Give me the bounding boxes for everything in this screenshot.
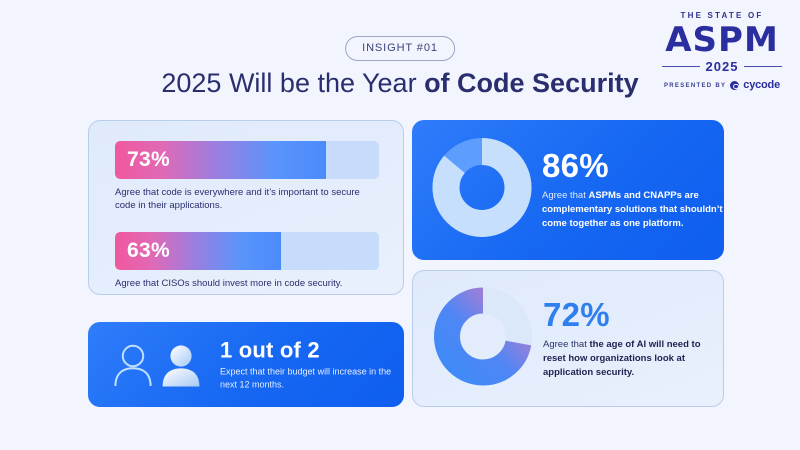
donut-72-caption: Agree that the age of AI will need to re… bbox=[543, 337, 723, 379]
bar-value-label: 63% bbox=[127, 239, 170, 263]
ratio-text-block: 1 out of 2 Expect that their budget will… bbox=[220, 338, 404, 391]
donut-72-text-block: 72% Agree that the age of AI will need t… bbox=[543, 297, 723, 379]
bar-caption: Agree that CISOs should invest more in c… bbox=[115, 277, 379, 290]
insight-badge: INSIGHT #01 bbox=[345, 36, 455, 61]
page-title-bold: of Code Security bbox=[424, 68, 639, 98]
bar-caption: Agree that code is everywhere and it’s i… bbox=[115, 186, 379, 213]
ratio-headline: 1 out of 2 bbox=[220, 338, 404, 361]
donut-86-text-block: 86% Agree that ASPMs and CNAPPs are comp… bbox=[542, 149, 724, 231]
donut-86-caption-regular: Agree that bbox=[542, 190, 588, 201]
page-title-regular: 2025 Will be the Year bbox=[161, 68, 424, 98]
ratio-panel: 1 out of 2 Expect that their budget will… bbox=[88, 322, 404, 407]
bar-item: 63% Agree that CISOs should invest more … bbox=[115, 232, 379, 290]
bar-track: 63% bbox=[115, 232, 379, 270]
ratio-caption: Expect that their budget will increase i… bbox=[220, 365, 404, 391]
bar-value-label: 73% bbox=[127, 148, 170, 172]
donut-72-panel: 72% Agree that the age of AI will need t… bbox=[412, 270, 724, 407]
donut-86-caption: Agree that ASPMs and CNAPPs are compleme… bbox=[542, 189, 724, 231]
donut-86-chart bbox=[430, 136, 534, 245]
logo-rule-right bbox=[744, 66, 782, 67]
logo-rule-left bbox=[662, 66, 700, 67]
donut-86-panel: 86% Agree that ASPMs and CNAPPs are comp… bbox=[412, 120, 724, 260]
people-icons bbox=[112, 343, 203, 387]
donut-72-caption-regular: Agree that bbox=[543, 338, 589, 349]
logo-state-of-label: THE STATE OF bbox=[662, 12, 782, 20]
person-outline-icon bbox=[112, 343, 154, 387]
person-filled-icon bbox=[159, 343, 203, 387]
page-title: 2025 Will be the Year of Code Security bbox=[0, 68, 800, 99]
bar-track: 73% bbox=[115, 141, 379, 179]
bars-panel: 73% Agree that code is everywhere and it… bbox=[88, 120, 404, 295]
donut-72-value: 72% bbox=[543, 297, 723, 330]
bar-item: 73% Agree that code is everywhere and it… bbox=[115, 141, 379, 213]
donut-72-chart bbox=[431, 284, 535, 393]
donut-86-value: 86% bbox=[542, 149, 724, 182]
logo-aspm-wordmark: ASPM bbox=[662, 23, 782, 57]
